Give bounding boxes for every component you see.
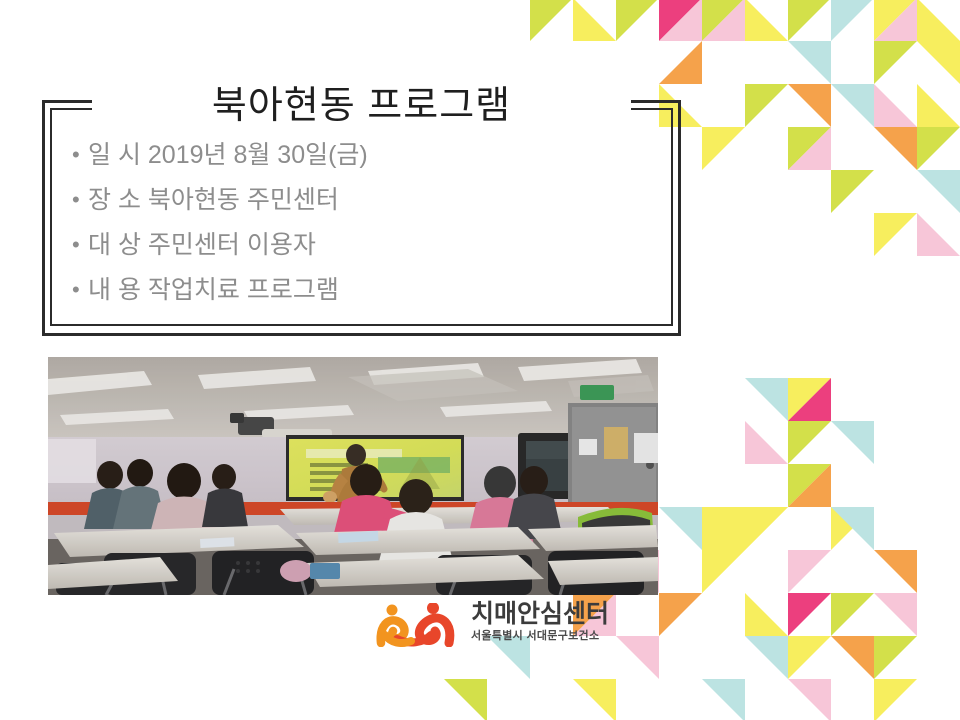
decor-triangle bbox=[702, 507, 788, 593]
decor-triangle bbox=[788, 41, 831, 84]
decor-triangle bbox=[917, 213, 960, 256]
decor-triangle bbox=[788, 127, 831, 170]
decor-triangle bbox=[874, 550, 917, 593]
decor-triangle bbox=[874, 84, 917, 127]
decor-triangle bbox=[745, 0, 788, 41]
decor-triangle bbox=[874, 679, 917, 720]
decor-triangle bbox=[659, 0, 702, 41]
decor-triangle bbox=[745, 421, 788, 464]
decor-triangle bbox=[831, 0, 874, 41]
list-item-label: 일 시 2019년 8월 30일(금) bbox=[88, 138, 368, 172]
list-item-label: 내 용 작업치료 프로그램 bbox=[88, 273, 339, 307]
organization-logo: 치매안심센터 서울특별시 서대문구보건소 bbox=[375, 601, 665, 649]
decor-triangle bbox=[874, 0, 917, 41]
decor-triangle bbox=[874, 41, 917, 84]
decor-triangle bbox=[530, 0, 573, 41]
decor-triangle bbox=[788, 378, 831, 421]
decor-triangle bbox=[831, 593, 874, 636]
decor-triangle bbox=[788, 464, 831, 507]
decor-triangle bbox=[788, 127, 831, 170]
decor-triangle bbox=[788, 84, 831, 127]
decor-triangle bbox=[788, 550, 831, 593]
decor-triangle bbox=[917, 84, 960, 127]
decor-triangle bbox=[702, 127, 745, 170]
decor-triangle bbox=[444, 679, 487, 720]
decor-triangle bbox=[917, 0, 960, 41]
decor-triangle bbox=[874, 636, 917, 679]
decor-triangle bbox=[831, 507, 874, 550]
decor-triangle bbox=[788, 679, 831, 720]
decor-triangle bbox=[831, 170, 874, 213]
photo-illustration bbox=[48, 357, 658, 595]
decor-triangle bbox=[831, 636, 874, 679]
logo-title: 치매안심센터 bbox=[471, 601, 667, 628]
decor-triangle bbox=[702, 0, 745, 41]
decor-triangle bbox=[831, 84, 874, 127]
decor-triangle bbox=[659, 0, 702, 41]
decor-triangle bbox=[702, 507, 788, 593]
decor-triangle bbox=[788, 0, 831, 41]
list-item: • 장 소 북아현동 주민센터 bbox=[72, 183, 662, 217]
bullet-icon: • bbox=[72, 138, 88, 172]
list-item-label: 장 소 북아현동 주민센터 bbox=[88, 183, 339, 217]
decor-triangle bbox=[831, 421, 874, 464]
decor-triangle bbox=[745, 378, 788, 421]
infinity-people-mark bbox=[375, 603, 463, 647]
decor-triangle bbox=[745, 593, 788, 636]
decor-triangle bbox=[616, 0, 659, 41]
decor-triangle bbox=[874, 593, 917, 636]
decor-triangle bbox=[573, 0, 616, 41]
decor-triangle bbox=[874, 0, 917, 41]
decor-triangle bbox=[745, 84, 788, 127]
detail-list: • 일 시 2019년 8월 30일(금) • 장 소 북아현동 주민센터 • … bbox=[72, 138, 662, 318]
page-title: 북아현동 프로그램 bbox=[42, 74, 681, 129]
decor-triangle bbox=[917, 41, 960, 84]
decor-triangle bbox=[788, 636, 831, 679]
decor-triangle bbox=[702, 679, 745, 720]
decor-triangle bbox=[917, 127, 960, 170]
decor-triangle bbox=[831, 507, 874, 550]
decor-triangle bbox=[788, 464, 831, 507]
decor-triangle bbox=[874, 213, 917, 256]
list-item-label: 대 상 주민센터 이용자 bbox=[88, 228, 316, 262]
decor-triangle bbox=[702, 0, 745, 41]
list-item: • 일 시 2019년 8월 30일(금) bbox=[72, 138, 662, 172]
list-item: • 내 용 작업치료 프로그램 bbox=[72, 273, 662, 307]
decor-triangle bbox=[745, 636, 788, 679]
decor-triangle bbox=[874, 127, 917, 170]
decor-triangle bbox=[659, 507, 702, 550]
decor-triangle bbox=[702, 507, 745, 550]
decor-triangle bbox=[788, 593, 831, 636]
bullet-icon: • bbox=[72, 228, 88, 262]
bullet-icon: • bbox=[72, 273, 88, 307]
decor-triangle bbox=[917, 170, 960, 213]
logo-subtitle: 서울특별시 서대문구보건소 bbox=[471, 629, 667, 643]
bullet-icon: • bbox=[72, 183, 88, 217]
program-photo bbox=[48, 357, 658, 595]
decor-triangle bbox=[573, 679, 616, 720]
decor-triangle bbox=[788, 421, 831, 464]
slide-canvas: 북아현동 프로그램 • 일 시 2019년 8월 30일(금) • 장 소 북아… bbox=[0, 0, 960, 720]
decor-triangle bbox=[788, 378, 831, 421]
list-item: • 대 상 주민센터 이용자 bbox=[72, 228, 662, 262]
